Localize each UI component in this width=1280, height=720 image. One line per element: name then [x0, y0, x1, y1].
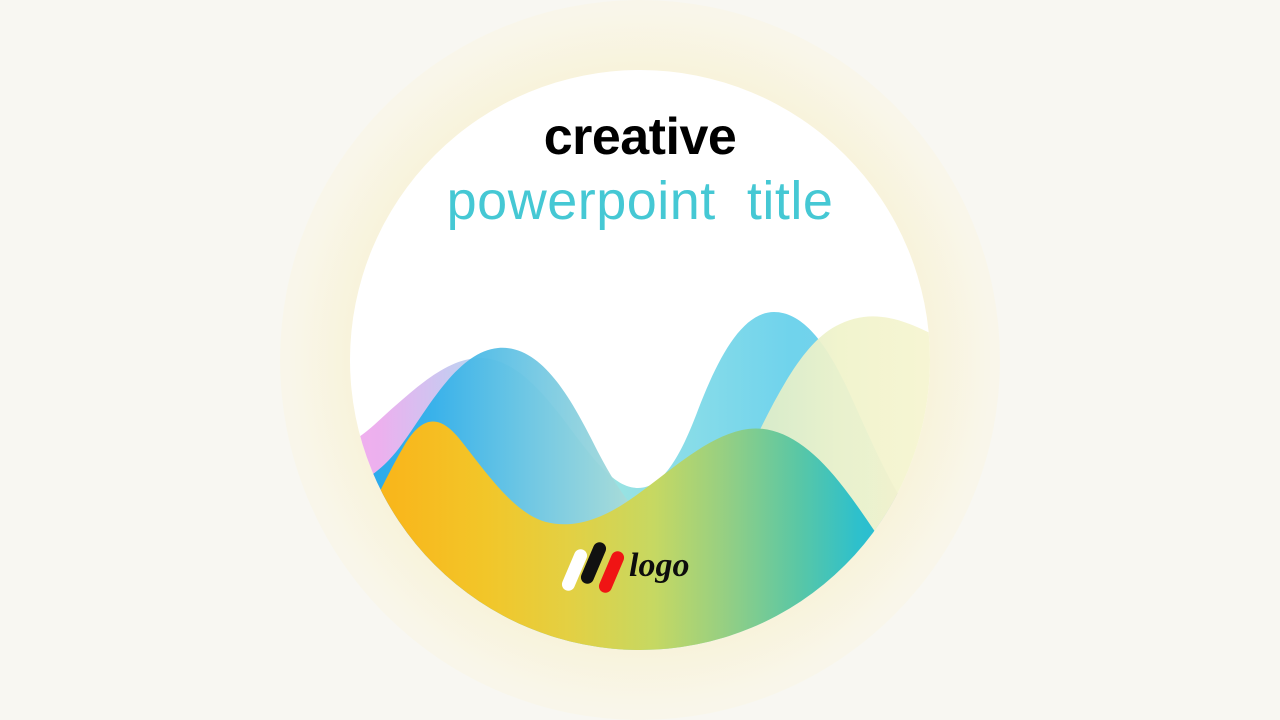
- slide-canvas: creative powerpoint title logo: [0, 0, 1280, 720]
- logo-lockup[interactable]: logo: [565, 538, 715, 594]
- logo-wordmark: logo: [629, 549, 689, 583]
- logo-mark-icon: [565, 540, 623, 592]
